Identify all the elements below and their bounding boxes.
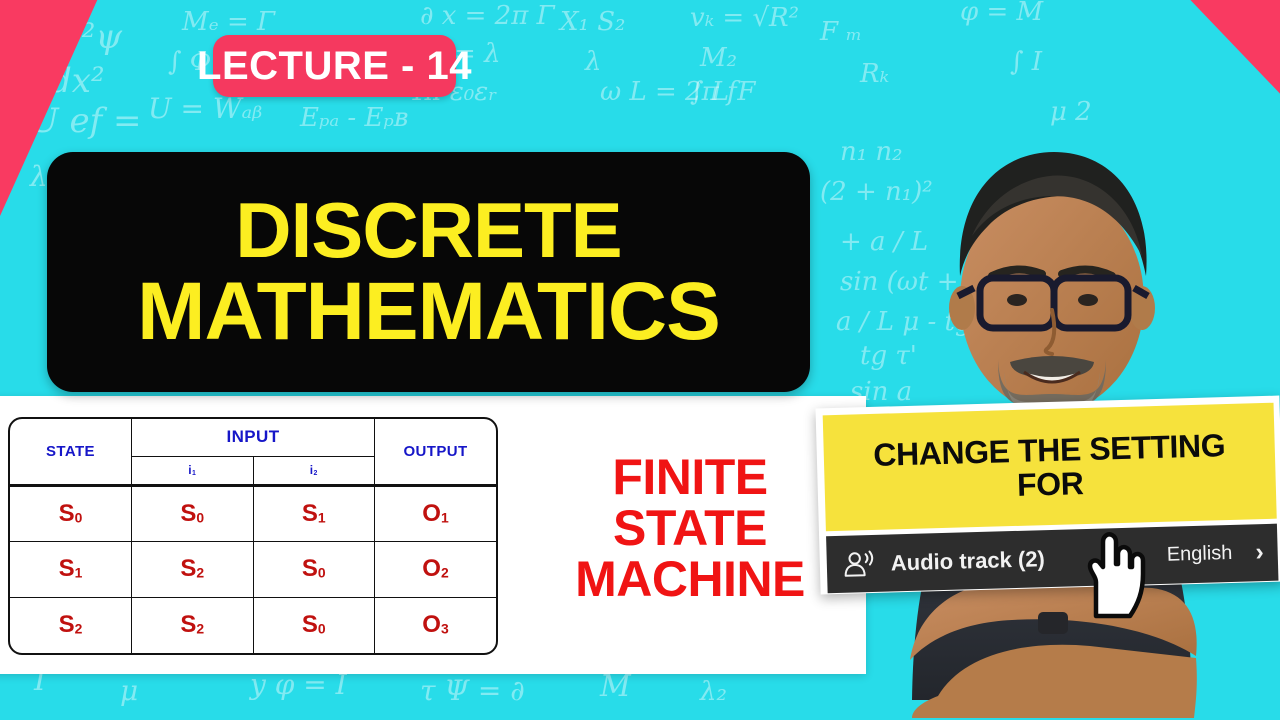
chevron-right-icon[interactable]: › [1255, 540, 1264, 565]
lecture-number-badge: LECTURE - 14 [213, 35, 456, 97]
table-header-input-1: i1 [132, 456, 254, 485]
audio-track-menu-item[interactable]: Audio track (2) English › [826, 524, 1278, 594]
cell-input-2: S1 [253, 485, 375, 541]
audio-track-value: English [1166, 542, 1232, 567]
instructor-photo [852, 60, 1252, 720]
callout-headline-line-2: FOR [1017, 466, 1084, 502]
table-row: S2 S2 S0 O3 [10, 597, 496, 653]
cell-output: O3 [375, 597, 497, 653]
cell-input-2: S0 [253, 541, 375, 597]
cell-output: O2 [375, 541, 497, 597]
table-row: S1 S2 S0 O2 [10, 541, 496, 597]
cell-output: O1 [375, 485, 497, 541]
finite-state-machine-table: STATE INPUT OUTPUT i1 i2 S0 S0 S1 O1 S1 … [8, 417, 498, 655]
cell-state: S0 [10, 485, 132, 541]
cell-input-1: S0 [132, 485, 254, 541]
settings-callout-card: CHANGE THE SETTING FOR Audio track (2) E… [815, 396, 1280, 595]
course-title-card: DISCRETE MATHEMATICS [47, 152, 810, 392]
cell-input-1: S2 [132, 541, 254, 597]
callout-headline: CHANGE THE SETTING FOR [823, 403, 1277, 532]
lecture-badge-label: LECTURE - 14 [197, 44, 472, 89]
table-header-output: OUTPUT [375, 419, 497, 485]
cell-input-2: S0 [253, 597, 375, 653]
table-header-input-2: i2 [253, 456, 375, 485]
table-row: S0 S0 S1 O1 [10, 485, 496, 541]
topic-line-1: FINITE [540, 452, 840, 503]
cell-state: S1 [10, 541, 132, 597]
course-title-line-2: MATHEMATICS [137, 272, 720, 352]
audio-track-label: Audio track (2) [890, 546, 1045, 576]
audio-track-person-icon [842, 548, 877, 579]
table-header-input-group: INPUT [132, 419, 375, 456]
table-header-row-1: STATE INPUT OUTPUT [10, 419, 496, 456]
course-title-line-1: DISCRETE [235, 192, 621, 268]
cell-input-1: S2 [132, 597, 254, 653]
topic-line-3: MACHINE [540, 554, 840, 605]
cell-state: S2 [10, 597, 132, 653]
table-header-state: STATE [10, 419, 132, 485]
topic-heading: FINITE STATE MACHINE [540, 452, 840, 605]
audio-bar-spacer [1059, 556, 1153, 559]
topic-line-2: STATE [540, 503, 840, 554]
youtube-thumbnail: d²ψdx²U ef =Mₑ = Γ∫ ФU = WₐᵦΕₚₐ - Εₚʙ∂ x… [0, 0, 1280, 720]
